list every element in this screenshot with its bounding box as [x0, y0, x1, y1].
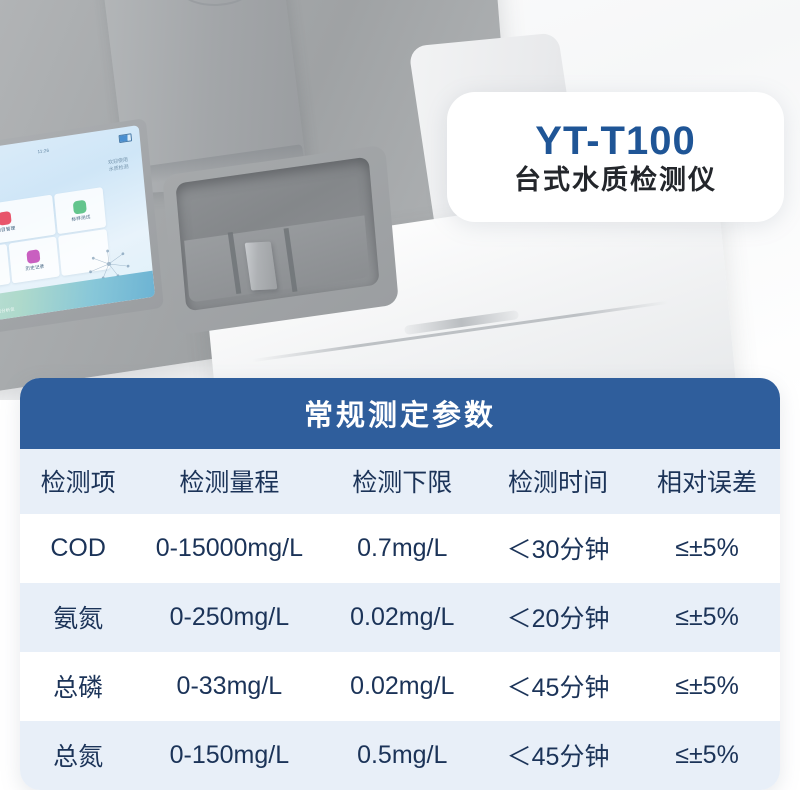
touchscreen[interactable]: 2023-11-06 11:26 欢迎使用 水质检测 项目管理 标样测试 仪器设…: [0, 125, 155, 327]
battery-icon: [119, 133, 133, 142]
table-row: 氨氮 0-250mg/L 0.02mg/L ＜20分钟 ≤±5%: [20, 583, 780, 652]
product-subtitle: 台式水质检测仪: [514, 167, 717, 194]
product-model: YT-T100: [535, 121, 695, 161]
cell-error: ≤±5%: [634, 514, 780, 583]
welcome-line-2: 水质检测: [109, 164, 129, 174]
cell-limit: 0.7mg/L: [322, 514, 482, 583]
sample-icon: [73, 199, 87, 214]
table-row: COD 0-15000mg/L 0.7mg/L ＜30分钟 ≤±5%: [20, 514, 780, 583]
column-header-limit: 检测下限: [322, 449, 482, 514]
screen-tile-history[interactable]: 历史记录: [8, 236, 60, 283]
cell-range: 0-150mg/L: [136, 721, 322, 790]
spec-table: 检测项 检测量程 检测下限 检测时间 相对误差 COD 0-15000mg/L …: [20, 449, 780, 790]
cell-time: ＜45分钟: [482, 721, 634, 790]
cell-error: ≤±5%: [634, 721, 780, 790]
cell-range: 0-33mg/L: [136, 652, 322, 721]
table-header-row: 检测项 检测量程 检测下限 检测时间 相对误差: [20, 449, 780, 514]
cell-time: ＜45分钟: [482, 652, 634, 721]
column-header-time: 检测时间: [482, 449, 634, 514]
project-icon: [0, 210, 12, 225]
table-row: 总氮 0-150mg/L 0.5mg/L ＜45分钟 ≤±5%: [20, 721, 780, 790]
screen-tile-label: 历史记录: [25, 263, 45, 272]
cell-time: ＜30分钟: [482, 514, 634, 583]
cell-error: ≤±5%: [634, 652, 780, 721]
screen-tile-label: 项目管理: [0, 225, 16, 234]
cell-item: COD: [20, 514, 136, 583]
status-time: 11:26: [37, 147, 49, 154]
cell-error: ≤±5%: [634, 583, 780, 652]
column-header-error: 相对误差: [634, 449, 780, 514]
cell-item: 氨氮: [20, 583, 136, 652]
table-row: 总磷 0-33mg/L 0.02mg/L ＜45分钟 ≤±5%: [20, 652, 780, 721]
spec-table-title: 常规测定参数: [20, 378, 780, 449]
spec-table-card: 常规测定参数 检测项 检测量程 检测下限 检测时间 相对误差 COD 0-150…: [20, 378, 780, 790]
column-header-item: 检测项: [20, 449, 136, 514]
cell-range: 0-250mg/L: [136, 583, 322, 652]
cell-limit: 0.02mg/L: [322, 652, 482, 721]
screen-welcome-text: 欢迎使用 水质检测: [108, 157, 129, 174]
cell-range: 0-15000mg/L: [136, 514, 322, 583]
cell-item: 总氮: [20, 721, 136, 790]
cell-time: ＜20分钟: [482, 583, 634, 652]
cell-limit: 0.5mg/L: [322, 721, 482, 790]
column-header-range: 检测量程: [136, 449, 322, 514]
screen-tile-label: 标样测试: [71, 214, 91, 223]
cell-limit: 0.02mg/L: [322, 583, 482, 652]
screen-tile-standard-sample[interactable]: 标样测试: [54, 187, 106, 234]
cell-item: 总磷: [20, 652, 136, 721]
history-icon: [27, 249, 41, 264]
product-title-card: YT-T100 台式水质检测仪: [447, 92, 784, 222]
